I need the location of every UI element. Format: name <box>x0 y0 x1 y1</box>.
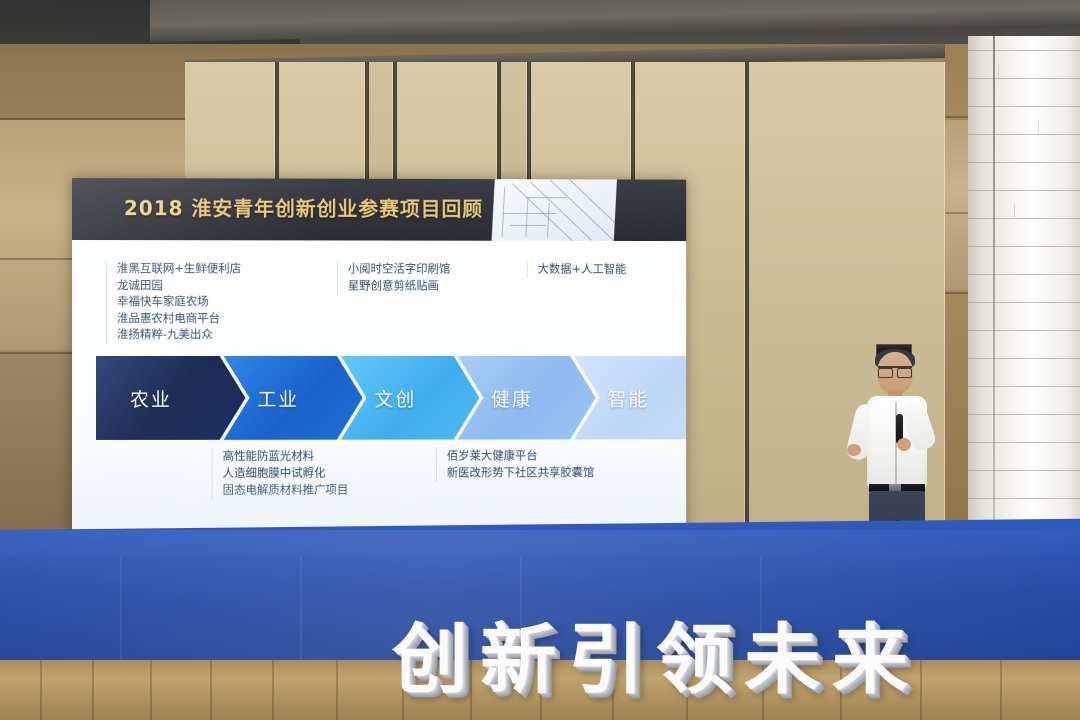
project-item: 固态电解质材料推广项目 <box>223 481 441 498</box>
chevron-label: 文创 <box>375 384 417 411</box>
project-column-intelligence: 大数据+人工智能 <box>527 261 676 278</box>
project-column-health: 佰岁莱大健康平台 新医改形势下社区共享胶囊馆 <box>436 447 683 481</box>
project-column-culture: 小阅时空活字印刷馆 星野创意剪纸贴画 <box>337 260 526 293</box>
photo-scene: 2018 淮安青年创新创业参赛项目回顾 淮黑互联网+生鲜便利店 龙诚田园 幸福快… <box>0 0 1080 720</box>
project-item: 星野创意剪纸贴画 <box>348 277 526 294</box>
project-item: 高性能防蓝光材料 <box>223 448 441 465</box>
slogan-char: 引 <box>568 622 644 698</box>
slogan-char: 未 <box>744 622 820 698</box>
slide-title-text: 淮安青年创新创业参赛项目回顾 <box>191 196 483 221</box>
project-item: 佰岁莱大健康平台 <box>447 447 683 464</box>
projection-screen: 2018 淮安青年创新创业参赛项目回顾 淮黑互联网+生鲜便利店 龙诚田园 幸福快… <box>72 178 686 538</box>
stage-slogan: 创 新 引 领 未 来 <box>392 616 972 704</box>
project-item: 淮扬精粹-九美出众 <box>117 326 326 343</box>
project-item: 幸福快车家庭农场 <box>117 293 326 310</box>
project-item: 新医改形势下社区共享胶囊馆 <box>447 464 683 481</box>
right-hand <box>897 438 911 451</box>
left-hand <box>847 444 861 456</box>
project-item: 小阅时空活字印刷馆 <box>348 260 526 277</box>
slogan-char: 来 <box>832 622 908 698</box>
top-project-columns: 淮黑互联网+生鲜便利店 龙诚田园 幸福快车家庭农场 淮品惠农村电商平台 淮扬精粹… <box>106 260 661 356</box>
slide-header: 2018 淮安青年创新创业参赛项目回顾 <box>72 178 686 241</box>
slide-title: 2018 淮安青年创新创业参赛项目回顾 <box>124 192 483 222</box>
bottom-project-columns: 高性能防蓝光材料 人造细胞膜中试孵化 固态电解质材料推广项目 佰岁莱大健康平台 … <box>212 447 677 523</box>
blueprint-drawing-icon <box>491 178 617 241</box>
chevron-label: 农业 <box>130 384 172 411</box>
stone-column-corner <box>993 36 995 564</box>
project-column-agriculture: 淮黑互联网+生鲜便利店 龙诚田园 幸福快车家庭农场 淮品惠农村电商平台 淮扬精粹… <box>106 260 326 343</box>
project-column-industry: 高性能防蓝光材料 人造细胞膜中试孵化 固态电解质材料推广项目 <box>212 448 441 499</box>
project-item: 大数据+人工智能 <box>538 261 676 278</box>
chevron-label: 健康 <box>491 384 532 411</box>
chevron-label: 智能 <box>608 384 649 411</box>
chevron-agriculture: 农业 <box>96 356 246 440</box>
slogan-char: 新 <box>480 622 556 698</box>
stone-column <box>968 36 1080 564</box>
chevron-label: 工业 <box>257 384 299 411</box>
slide-title-year: 2018 <box>124 196 184 220</box>
project-item: 龙诚田园 <box>117 277 326 294</box>
project-item: 淮黑互联网+生鲜便利店 <box>117 260 326 277</box>
category-chevron-band: 农业 工业 文创 健康 智能 <box>96 356 670 440</box>
project-item: 淮品惠农村电商平台 <box>117 310 326 327</box>
slogan-char: 领 <box>656 622 732 698</box>
slide-body: 淮黑互联网+生鲜便利店 龙诚田园 幸福快车家庭农场 淮品惠农村电商平台 淮扬精粹… <box>72 240 686 538</box>
project-item: 人造细胞膜中试孵化 <box>223 464 441 481</box>
wall-seam <box>0 118 200 120</box>
glasses-icon <box>878 366 912 376</box>
slogan-char: 创 <box>392 622 468 698</box>
